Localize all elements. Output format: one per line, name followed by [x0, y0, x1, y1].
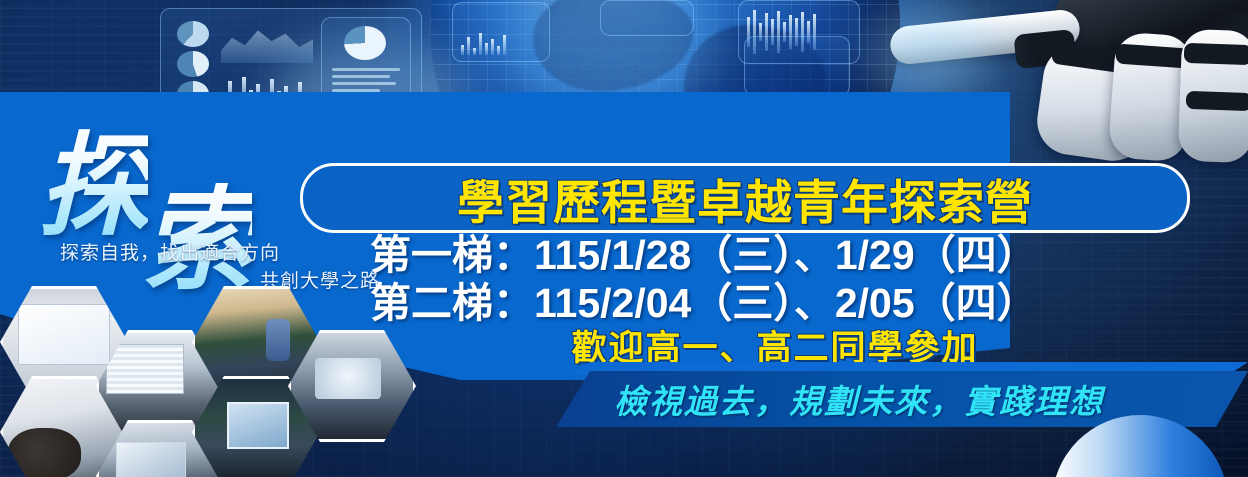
bar-chart-icon: [461, 29, 506, 55]
donut-chart-icon: [344, 26, 386, 60]
robot-finger-joint: [1184, 43, 1248, 65]
area-chart-icon: [221, 21, 313, 63]
event-title-pill: 學習歷程暨卓越青年探索營: [300, 163, 1190, 233]
hud-panel-small: [452, 2, 550, 62]
photo-collage: [0, 284, 502, 477]
subtitle-line-1: 探索自我，找出適合方向: [60, 240, 380, 268]
photo-image: [291, 333, 413, 439]
session-date-1: 第一梯：115/1/28（三）、1/29（四）: [370, 232, 1180, 280]
pie-chart-icon: [177, 21, 209, 47]
pie-chart-icon: [177, 51, 209, 77]
hud-panel-small: [600, 0, 694, 36]
robot-finger-joint: [1186, 91, 1248, 111]
logo-char-1: 探: [38, 96, 148, 258]
brand-logo: 探 索: [34, 92, 334, 232]
slogan-text: 檢視過去，規劃未來，實踐理想: [614, 375, 1104, 423]
hud-panel-outline: [744, 36, 850, 96]
event-title-text: 學習歷程暨卓越青年探索營: [457, 164, 1033, 233]
promotional-banner: 探 索 探索自我，找出適合方向 共創大學之路 學習歷程暨卓越青年探索營 第一梯：…: [0, 0, 1248, 477]
